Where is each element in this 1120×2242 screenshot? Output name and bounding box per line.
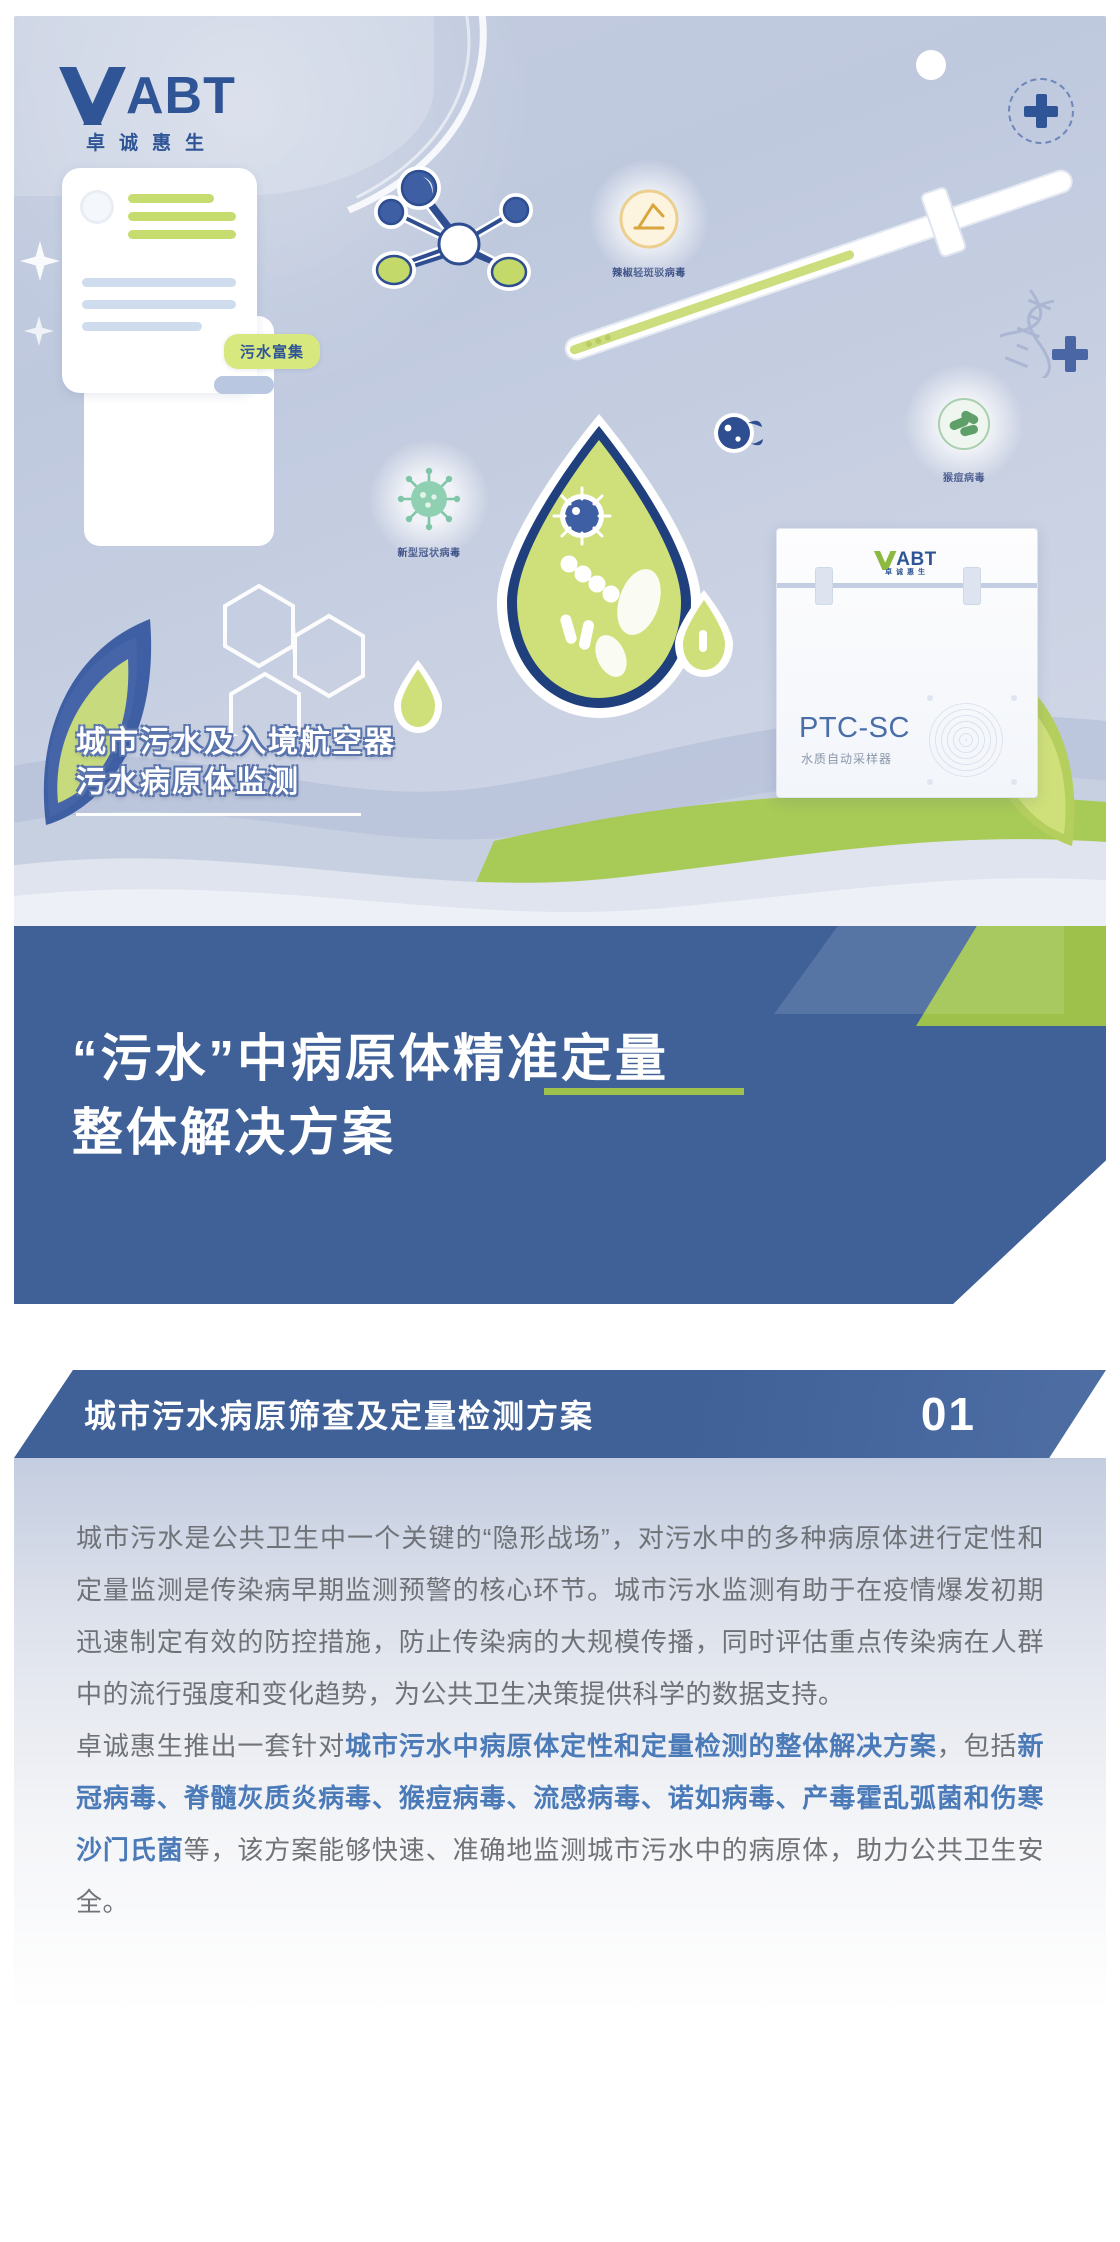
main-title-underline — [544, 1088, 744, 1095]
section-header-number: 01 — [921, 1387, 976, 1441]
infographic-page: ABT 卓诚惠生 污水富集 — [0, 0, 1120, 2242]
device-model-name: PTC-SC — [799, 712, 910, 745]
company-logo: ABT 卓诚惠生 — [70, 68, 300, 155]
body-paragraph-1: 城市污水是公共卫生中一个关键的“隐形战场”，对污水中的多种病原体进行定性和定量监… — [76, 1512, 1044, 1720]
section-header-title: 城市污水病原筛查及定量检测方案 — [84, 1391, 594, 1437]
device-model-subtitle: 水质自动采样器 — [801, 750, 892, 767]
body-para2-highlight-1: 城市污水中病原体定性和定量检测的整体解决方案 — [345, 1731, 937, 1761]
hero-title-line1: 城市污水及入境航空器 — [76, 723, 396, 763]
pepper-mild-mottle-virus-icon — [613, 183, 685, 255]
logo-chinese-name: 卓诚惠生 — [70, 128, 300, 155]
body-content: 城市污水是公共卫生中一个关键的“隐形战场”，对污水中的多种病原体进行定性和定量监… — [14, 1458, 1106, 2228]
device-clip-right — [963, 567, 981, 605]
wastewater-enrichment-pill: 污水富集 — [224, 334, 320, 369]
droplet-small-2-icon — [389, 656, 447, 736]
body-para2-part-a: 卓诚惠生推出一套针对 — [76, 1731, 345, 1761]
hero-title-rule — [76, 813, 361, 816]
hero-banner: ABT 卓诚惠生 污水富集 — [14, 16, 1106, 926]
badge-pepper-mild-mottle-virus: 辣椒轻斑驳病毒 — [589, 176, 709, 279]
body-para2-part-b: ，包括 — [937, 1731, 1018, 1761]
x-mark-icon — [877, 552, 894, 569]
section-header-01: 城市污水病原筛查及定量检测方案 01 — [14, 1370, 1106, 1458]
plus-dashed-icon — [1008, 78, 1074, 144]
x-mark-icon — [70, 70, 122, 122]
dna-helix-icon — [1000, 288, 1054, 378]
droplet-small-icon — [669, 586, 739, 681]
device-vent-icon — [929, 703, 1003, 777]
main-title-block: “污水”中病原体精准定量 整体解决方案 — [14, 926, 1106, 1304]
logo-text: ABT — [126, 70, 236, 122]
device-logo-chinese: 卓诚惠生 — [885, 567, 929, 577]
circle-dot-icon — [916, 50, 946, 80]
water-droplet-icon — [469, 406, 729, 736]
body-para2-part-c: 等，该方案能够快速、准确地监测城市污水中的病原体，助力公共卫生安全。 — [76, 1835, 1044, 1917]
coronavirus-icon — [396, 466, 462, 532]
main-title-line2: 整体解决方案 — [72, 1096, 669, 1170]
main-title-line1: “污水”中病原体精准定量 — [72, 1022, 669, 1096]
main-title-text: “污水”中病原体精准定量 整体解决方案 — [72, 1022, 669, 1170]
badge-monkeypox-virus: 猴痘病毒 — [904, 381, 1024, 484]
pill-stub — [214, 376, 274, 394]
monkeypox-virus-icon — [931, 391, 997, 457]
hero-title-line2: 污水病原体监测 — [76, 763, 396, 803]
device-clip-left — [815, 567, 833, 605]
hexagon-molecule-icon — [189, 566, 419, 736]
ptc-sc-device: ABT 卓诚惠生 PTC-SC 水质自动采样器 — [776, 528, 1038, 798]
hero-title: 城市污水及入境航空器 污水病原体监测 — [76, 723, 396, 816]
body-paragraph-2: 卓诚惠生推出一套针对城市污水中病原体定性和定量检测的整体解决方案，包括新冠病毒、… — [76, 1720, 1044, 1928]
